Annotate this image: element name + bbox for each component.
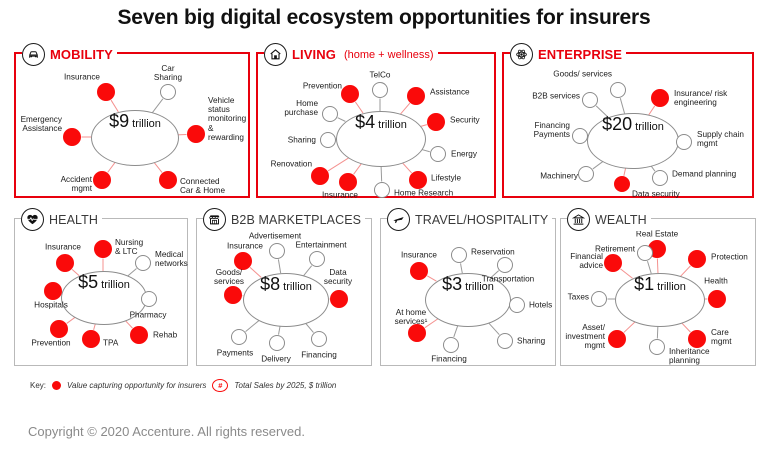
node-dot[interactable] bbox=[430, 146, 446, 162]
node-label: Pharmacy bbox=[130, 310, 167, 319]
node-label: Home Research bbox=[394, 188, 453, 197]
legend-total-sales-text: Total Sales by 2025, $ trillion bbox=[234, 381, 336, 390]
node-label: Data security bbox=[324, 268, 352, 286]
panel-header-living: LIVING(home + wellness) bbox=[264, 43, 438, 66]
node-label: Emergency Assistance bbox=[21, 115, 62, 133]
copyright-footer: Copyright © 2020 Accenture. All rights r… bbox=[28, 424, 305, 439]
node-dot[interactable] bbox=[651, 89, 669, 107]
bank-icon bbox=[567, 208, 590, 231]
node-dot[interactable] bbox=[322, 106, 338, 122]
node-dot[interactable] bbox=[160, 84, 176, 100]
node-label: Delivery bbox=[261, 354, 291, 363]
node-dot[interactable] bbox=[409, 171, 427, 189]
node-label: TelCo bbox=[370, 70, 391, 79]
node-label: At home services¹ bbox=[395, 308, 428, 326]
node-dot[interactable] bbox=[231, 329, 247, 345]
node-dot[interactable] bbox=[135, 255, 151, 271]
hub-amount: $8 bbox=[260, 274, 280, 295]
node-dot[interactable] bbox=[688, 330, 706, 348]
panel-header-enterprise: ENTERPRISE bbox=[510, 43, 626, 66]
node-label: Sharing bbox=[517, 336, 545, 345]
node-dot[interactable] bbox=[97, 83, 115, 101]
node-label: Inheritance planning bbox=[669, 347, 710, 365]
legend-key-word: Key: bbox=[30, 381, 46, 390]
node-label: Insurance bbox=[227, 241, 263, 250]
hub-amount: $9 bbox=[109, 111, 129, 132]
hub-unit: trillion bbox=[378, 119, 407, 131]
node-label: Taxes bbox=[568, 292, 589, 301]
node-label: Connected Car & Home bbox=[180, 177, 225, 195]
panel-header-b2b: B2B MARKETPLACES bbox=[203, 208, 365, 231]
node-dot[interactable] bbox=[652, 170, 668, 186]
node-dot[interactable] bbox=[374, 182, 390, 198]
node-label: Goods/ services bbox=[553, 69, 612, 78]
node-dot[interactable] bbox=[50, 320, 68, 338]
hub-value-living: $4trillion bbox=[336, 111, 426, 167]
node-label: Insurance bbox=[322, 190, 358, 199]
node-dot[interactable] bbox=[497, 257, 513, 273]
panel-header-wealth: WEALTH bbox=[567, 208, 651, 231]
panel-header-health: HEALTH bbox=[21, 208, 102, 231]
node-label: Rehab bbox=[153, 330, 177, 339]
node-label: Care mgmt bbox=[711, 328, 731, 346]
node-dot[interactable] bbox=[608, 330, 626, 348]
node-dot[interactable] bbox=[708, 290, 726, 308]
node-label: Machinery bbox=[540, 171, 578, 180]
node-label: Hotels bbox=[529, 300, 552, 309]
node-dot[interactable] bbox=[649, 339, 665, 355]
heart-pulse-icon bbox=[21, 208, 44, 231]
node-label: Accident mgmt bbox=[61, 175, 92, 193]
node-label: Sharing bbox=[288, 135, 316, 144]
panel-header-travel: TRAVEL/HOSPITALITY bbox=[387, 208, 552, 231]
node-label: Insurance bbox=[64, 72, 100, 81]
node-label: TPA bbox=[103, 338, 118, 347]
node-label: Medical networks bbox=[155, 250, 188, 268]
node-dot[interactable] bbox=[407, 87, 425, 105]
node-label: Security bbox=[450, 115, 480, 124]
node-label: Prevention bbox=[303, 81, 342, 90]
hub-unit: trillion bbox=[132, 118, 161, 130]
node-dot[interactable] bbox=[614, 176, 630, 192]
node-dot[interactable] bbox=[676, 134, 692, 150]
node-label: Goods/ services bbox=[214, 268, 244, 286]
panel-title-travel: TRAVEL/HOSPITALITY bbox=[415, 213, 548, 227]
node-label: Energy bbox=[451, 149, 477, 158]
panel-b2b[interactable]: B2B MARKETPLACES$8trillionAdvertisementE… bbox=[196, 218, 372, 366]
node-dot[interactable] bbox=[408, 324, 426, 342]
node-dot[interactable] bbox=[141, 291, 157, 307]
node-label: Demand planning bbox=[672, 169, 736, 178]
panel-title-enterprise: ENTERPRISE bbox=[538, 47, 622, 62]
node-label: Health bbox=[704, 276, 728, 285]
node-dot[interactable] bbox=[309, 251, 325, 267]
panel-title-wealth: WEALTH bbox=[595, 213, 647, 227]
node-dot[interactable] bbox=[224, 286, 242, 304]
node-label: Insurance bbox=[45, 242, 81, 251]
node-label: Reservation bbox=[471, 247, 515, 256]
node-label: Financing Payments bbox=[534, 121, 570, 139]
hub-value-enterprise: $20trillion bbox=[587, 113, 679, 169]
node-label: Payments bbox=[217, 348, 253, 357]
node-dot[interactable] bbox=[610, 82, 626, 98]
node-dot[interactable] bbox=[410, 262, 428, 280]
node-dot[interactable] bbox=[269, 243, 285, 259]
node-dot[interactable] bbox=[688, 250, 706, 268]
node-label: Car Sharing bbox=[154, 64, 182, 82]
node-dot[interactable] bbox=[44, 282, 62, 300]
node-dot[interactable] bbox=[509, 297, 525, 313]
node-label: Nursing & LTC bbox=[115, 238, 143, 256]
node-dot[interactable] bbox=[82, 330, 100, 348]
node-label: Supply chain mgmt bbox=[697, 130, 744, 148]
panel-title-b2b: B2B MARKETPLACES bbox=[231, 213, 361, 227]
node-dot[interactable] bbox=[94, 240, 112, 258]
node-dot[interactable] bbox=[497, 333, 513, 349]
node-dot[interactable] bbox=[159, 171, 177, 189]
car-icon bbox=[22, 43, 45, 66]
node-dot[interactable] bbox=[311, 331, 327, 347]
hub-unit: trillion bbox=[635, 121, 664, 133]
node-label: Vehicle status monitoring & rewarding bbox=[208, 96, 248, 142]
home-icon bbox=[264, 43, 287, 66]
node-label: Financing bbox=[431, 354, 467, 363]
node-label: Financing bbox=[301, 350, 337, 359]
node-label: Hospitals bbox=[34, 300, 68, 309]
node-label: Data security bbox=[632, 189, 680, 198]
node-dot[interactable] bbox=[187, 125, 205, 143]
node-dot[interactable] bbox=[427, 113, 445, 131]
node-dot[interactable] bbox=[637, 245, 653, 261]
node-dot[interactable] bbox=[582, 92, 598, 108]
node-label: Retirement bbox=[595, 244, 635, 253]
hub-amount: $4 bbox=[355, 112, 375, 133]
panel-title-health: HEALTH bbox=[49, 213, 98, 227]
node-label: Asset/ investment mgmt bbox=[565, 323, 605, 351]
hub-amount: $5 bbox=[78, 272, 98, 293]
node-dot[interactable] bbox=[93, 171, 111, 189]
panel-health[interactable]: HEALTH$5trillionNursing & LTCMedical net… bbox=[14, 218, 188, 366]
page-title: Seven big digital ecosystem opportunitie… bbox=[0, 6, 768, 30]
node-label: B2B services bbox=[532, 91, 580, 100]
node-dot[interactable] bbox=[578, 166, 594, 182]
node-dot[interactable] bbox=[604, 254, 622, 272]
panel-title-mobility: MOBILITY bbox=[50, 47, 113, 62]
node-label: Protection bbox=[711, 252, 748, 261]
hub-unit: trillion bbox=[657, 281, 686, 293]
panel-living[interactable]: LIVING(home + wellness)$4trillionTelCoAs… bbox=[256, 52, 496, 198]
node-label: Renovation bbox=[271, 159, 312, 168]
hub-amount: $3 bbox=[442, 274, 462, 295]
legend: Key: Value capturing opportunity for ins… bbox=[30, 379, 336, 392]
red-dot-icon bbox=[52, 381, 61, 390]
node-dot[interactable] bbox=[311, 167, 329, 185]
hub-unit: trillion bbox=[283, 281, 312, 293]
hub-value-mobility: $9trillion bbox=[91, 110, 179, 166]
storefront-icon bbox=[203, 208, 226, 231]
airplane-icon bbox=[387, 208, 410, 231]
node-dot[interactable] bbox=[451, 247, 467, 263]
node-dot[interactable] bbox=[320, 132, 336, 148]
node-dot[interactable] bbox=[330, 290, 348, 308]
node-dot[interactable] bbox=[341, 85, 359, 103]
node-dot[interactable] bbox=[591, 291, 607, 307]
node-dot[interactable] bbox=[63, 128, 81, 146]
node-label: Insurance bbox=[401, 250, 437, 259]
node-label: Advertisement bbox=[249, 231, 301, 240]
node-label: Insurance/ risk engineering bbox=[674, 89, 727, 107]
node-label: Assistance bbox=[430, 87, 470, 96]
panel-travel[interactable]: TRAVEL/HOSPITALITY$3trillionReservationT… bbox=[380, 218, 556, 366]
node-label: Lifestyle bbox=[431, 173, 461, 182]
legend-opportunity-text: Value capturing opportunity for insurers bbox=[67, 381, 206, 390]
node-label: Transportation bbox=[482, 274, 535, 283]
panel-enterprise[interactable]: ENTERPRISE$20trillionGoods/ servicesInsu… bbox=[502, 52, 754, 198]
node-label: Prevention bbox=[31, 338, 70, 347]
node-label: Home purchase bbox=[284, 99, 318, 117]
panel-subtitle-living: (home + wellness) bbox=[344, 49, 434, 61]
node-dot[interactable] bbox=[130, 326, 148, 344]
hub-value-wealth: $1trillion bbox=[615, 273, 705, 327]
hash-circle-icon: # bbox=[212, 379, 228, 392]
panel-wealth[interactable]: WEALTH$1trillionReal EstateProtectionHea… bbox=[560, 218, 756, 366]
panel-header-mobility: MOBILITY bbox=[22, 43, 117, 66]
node-dot[interactable] bbox=[339, 173, 357, 191]
node-dot[interactable] bbox=[372, 82, 388, 98]
node-dot[interactable] bbox=[269, 335, 285, 351]
node-dot[interactable] bbox=[572, 128, 588, 144]
hub-amount: $20 bbox=[602, 114, 632, 135]
atom-network-icon bbox=[510, 43, 533, 66]
hub-value-b2b: $8trillion bbox=[243, 273, 329, 327]
panel-title-living: LIVING bbox=[292, 47, 336, 62]
panel-mobility[interactable]: MOBILITY$9trillionInsuranceCar SharingVe… bbox=[14, 52, 250, 198]
node-dot[interactable] bbox=[56, 254, 74, 272]
node-dot[interactable] bbox=[443, 337, 459, 353]
node-label: Financial advice bbox=[570, 252, 603, 270]
hub-amount: $1 bbox=[634, 274, 654, 295]
hub-unit: trillion bbox=[101, 279, 130, 291]
node-label: Entertainment bbox=[296, 240, 347, 249]
